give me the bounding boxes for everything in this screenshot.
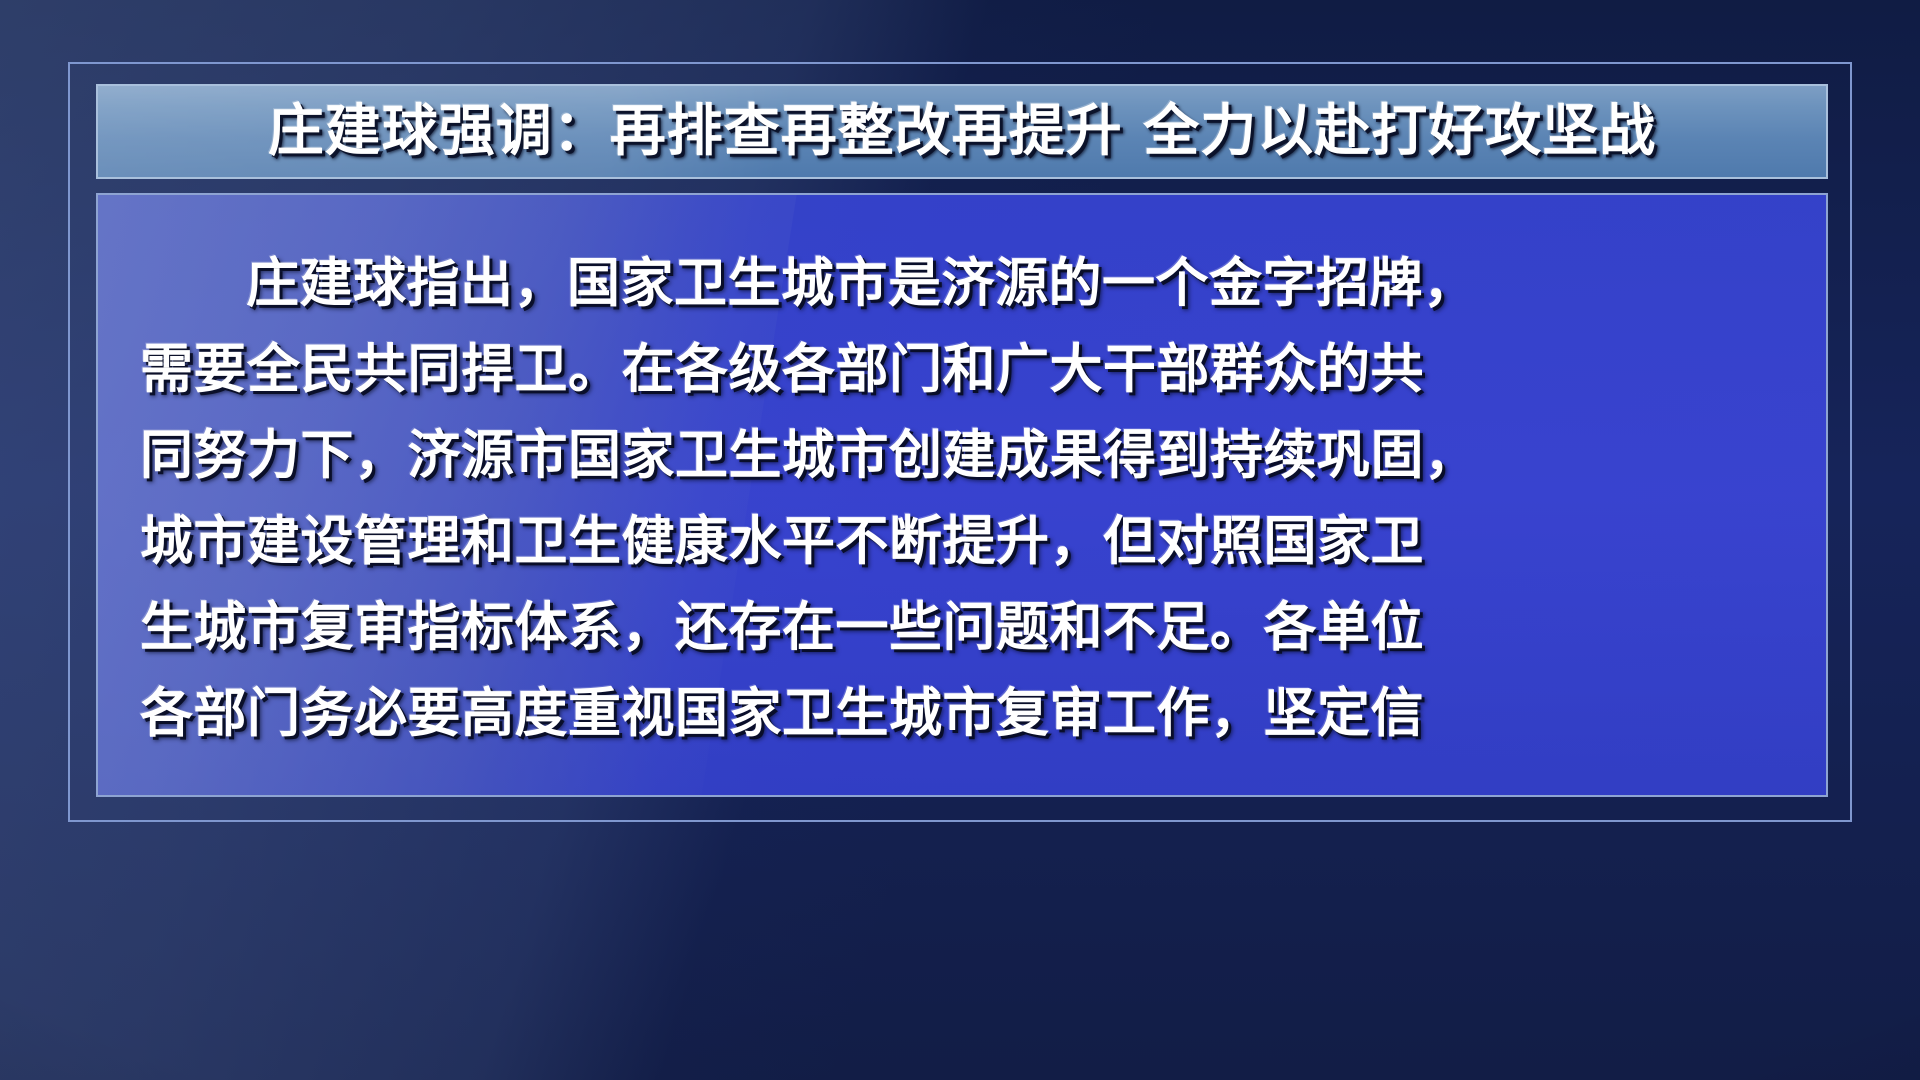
body-line-2: 需要全民共同捍卫。在各级各部门和广大干部群众的共 xyxy=(140,327,1784,413)
body-panel: 庄建球指出，国家卫生城市是济源的一个金字招牌， 需要全民共同捍卫。在各级各部门和… xyxy=(96,193,1828,797)
body-paragraph: 庄建球指出，国家卫生城市是济源的一个金字招牌， 需要全民共同捍卫。在各级各部门和… xyxy=(140,241,1784,757)
content-container: 庄建球强调：再排查再整改再提升 全力以赴打好攻坚战 庄建球指出，国家卫生城市是济… xyxy=(96,84,1828,800)
headline-title: 庄建球强调：再排查再整改再提升 全力以赴打好攻坚战 xyxy=(268,104,1657,160)
body-line-4: 城市建设管理和卫生健康水平不断提升，但对照国家卫 xyxy=(140,499,1784,585)
title-bar: 庄建球强调：再排查再整改再提升 全力以赴打好攻坚战 xyxy=(96,84,1828,179)
body-line-5: 生城市复审指标体系，还存在一些问题和不足。各单位 xyxy=(140,585,1784,671)
body-line-1: 庄建球指出，国家卫生城市是济源的一个金字招牌， xyxy=(140,241,1784,327)
body-line-6: 各部门务必要高度重视国家卫生城市复审工作，坚定信 xyxy=(140,671,1784,757)
body-line-3: 同努力下，济源市国家卫生城市创建成果得到持续巩固， xyxy=(140,413,1784,499)
news-graphic-stage: 庄建球强调：再排查再整改再提升 全力以赴打好攻坚战 庄建球指出，国家卫生城市是济… xyxy=(0,0,1920,1080)
